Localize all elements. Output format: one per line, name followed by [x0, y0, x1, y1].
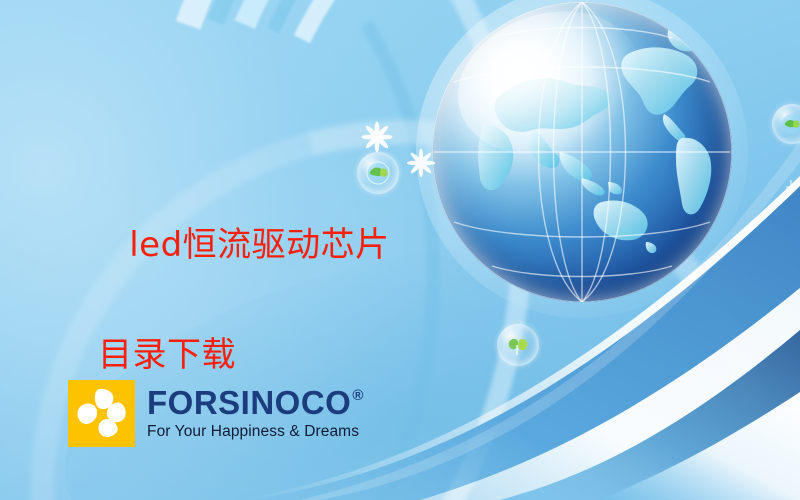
bubble-globe-edge [772, 104, 800, 144]
logo-tagline: For Your Happiness & Dreams [147, 423, 364, 441]
headline-line-2: 目录下载 [84, 328, 504, 383]
logo-wordmark: FORSINOCO ® [147, 386, 364, 419]
headline-line-1: led恒流驱动芯片 [129, 225, 389, 265]
brand-logo: FORSINOCO ® For Your Happiness & Dreams [68, 380, 364, 447]
registered-trademark-icon: ® [352, 388, 364, 403]
logo-wordmark-text: FORSINOCO [147, 386, 351, 419]
logo-pinwheel-icon [68, 380, 135, 447]
promo-banner: led恒流驱动芯片 目录下载 FORSINOCO ® For Your Happ… [0, 0, 800, 500]
logo-text-block: FORSINOCO ® For Your Happiness & Dreams [147, 386, 364, 441]
